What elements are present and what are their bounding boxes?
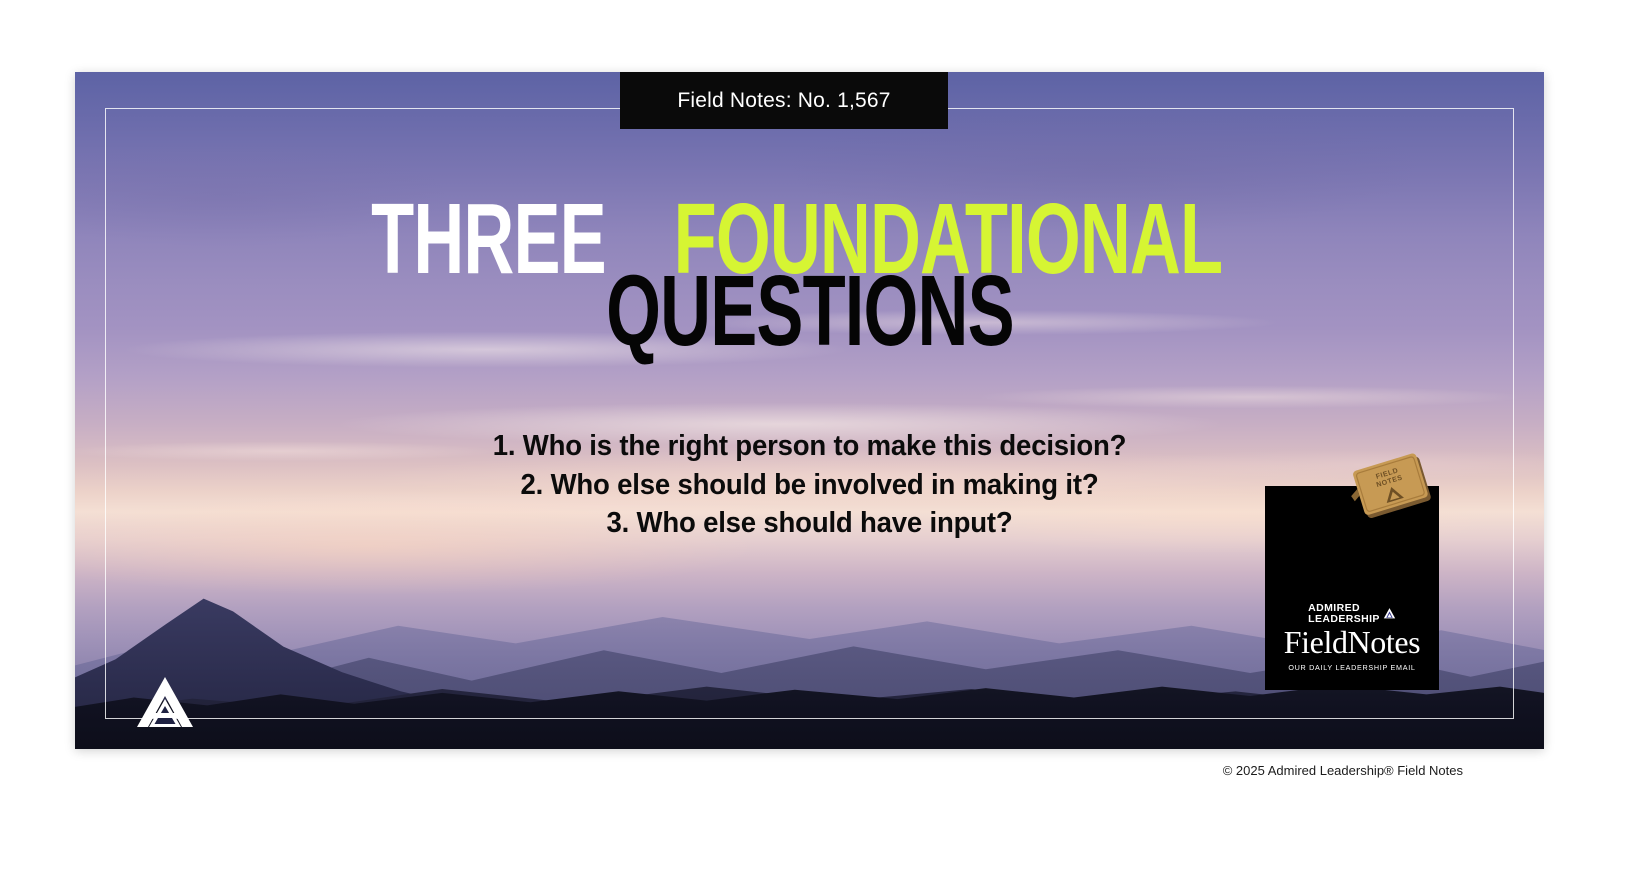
field-notes-number-bar: Field Notes: No. 1,567 bbox=[620, 72, 948, 129]
badge-text-block: ADMIRED LEADERSHIP FieldNotes OUR DAILY … bbox=[1265, 603, 1439, 672]
triangle-mark-icon bbox=[1383, 607, 1396, 620]
copyright-text: © 2025 Admired Leadership® Field Notes bbox=[1223, 763, 1463, 778]
admired-leadership-lockup: ADMIRED LEADERSHIP bbox=[1265, 603, 1439, 625]
slide-card: Field Notes: No. 1,567 THREE FOUNDATIONA… bbox=[75, 72, 1544, 749]
slide-page: Field Notes: No. 1,567 THREE FOUNDATIONA… bbox=[0, 0, 1648, 885]
notebook-icon: FIELD NOTES bbox=[1349, 450, 1441, 528]
headline-word-three: THREE bbox=[371, 196, 606, 284]
headline-line-2: QUESTIONS bbox=[75, 284, 1544, 356]
headline-word-questions: QUESTIONS bbox=[606, 268, 1014, 356]
fieldnotes-wordmark: FieldNotes bbox=[1265, 626, 1439, 660]
field-notes-badge: FIELD NOTES ADMIRED LEADERSHIP bbox=[1265, 486, 1439, 690]
field-notes-number-label: Field Notes: No. 1,567 bbox=[677, 89, 890, 113]
question-item-1: 1. Who is the right person to make this … bbox=[112, 427, 1508, 466]
admired-leadership-words: ADMIRED LEADERSHIP bbox=[1308, 603, 1380, 625]
headline: THREE FOUNDATIONAL QUESTIONS bbox=[75, 212, 1544, 356]
badge-tagline: OUR DAILY LEADERSHIP EMAIL bbox=[1265, 663, 1439, 672]
admired-leadership-logo-icon bbox=[134, 675, 196, 731]
